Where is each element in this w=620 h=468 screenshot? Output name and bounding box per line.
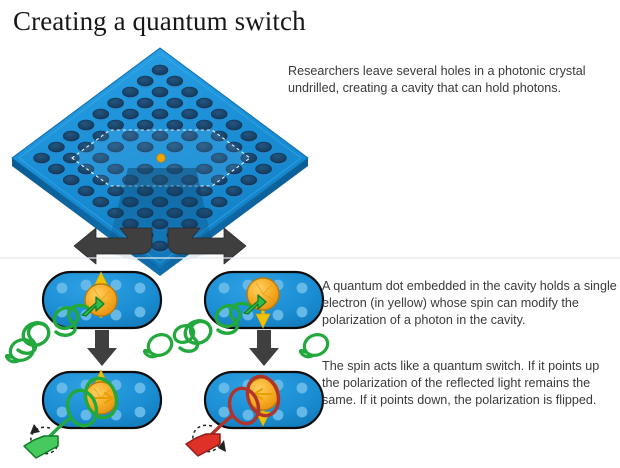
step-arrow-left bbox=[87, 330, 117, 366]
caption-crystal: Researchers leave several holes in a pho… bbox=[288, 63, 588, 97]
panel-top-left bbox=[18, 272, 161, 353]
cavity-center-marker bbox=[157, 154, 165, 162]
photon-helix-mid bbox=[145, 323, 197, 360]
caption-switch: The spin acts like a quantum switch. If … bbox=[322, 358, 618, 409]
photonic-crystal-slab bbox=[12, 48, 308, 276]
panel-bottom-right bbox=[186, 372, 323, 456]
photon-exit-arrow-br bbox=[186, 434, 220, 456]
rotation-arc-head-bl bbox=[30, 424, 40, 434]
photon-helix-mid-right bbox=[301, 331, 332, 359]
caption-quantum-dot: A quantum dot embedded in the cavity hol… bbox=[322, 278, 618, 329]
step-arrow-right bbox=[249, 330, 279, 366]
panel-bottom-left bbox=[24, 370, 161, 458]
panel-top-right bbox=[180, 272, 323, 351]
diagram-canvas: Creating a quantum switch bbox=[0, 0, 620, 468]
photon-exit-arrow-bl bbox=[24, 436, 58, 458]
